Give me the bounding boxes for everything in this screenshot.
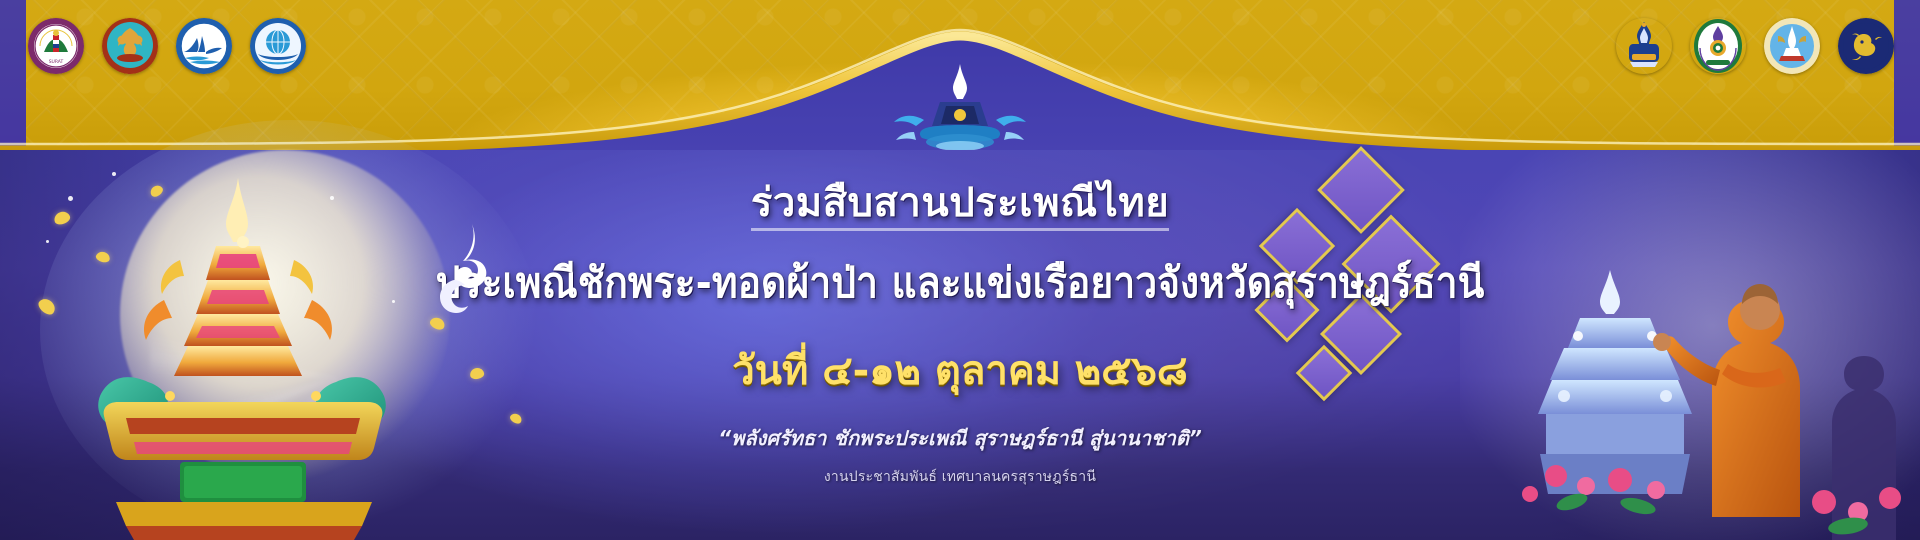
publisher-credit: งานประชาสัมพันธ์ เทศบาลนครสุราษฎร์ธานี xyxy=(390,466,1530,488)
headline-line-1: ร่วมสืบสานประเพณีไทย xyxy=(390,170,1530,234)
right-logo-row xyxy=(1616,18,1894,74)
emblem-teal-boat-icon[interactable] xyxy=(102,18,158,74)
headline-text-block: ร่วมสืบสานประเพณีไทย ประเพณีชักพระ-ทอดผ้… xyxy=(390,162,1530,540)
festival-banner: SURAT xyxy=(0,0,1920,540)
emblem-blue-city-hall-icon[interactable] xyxy=(176,18,232,74)
event-slogan: “พลังศรัทธา ชักพระประเพณี สุราษฎร์ธานี ส… xyxy=(390,422,1530,454)
emblem-royal-crown-blue-icon[interactable] xyxy=(1616,18,1672,74)
emblem-navy-singha-icon[interactable] xyxy=(1838,18,1894,74)
thai-flame-ornament-icon xyxy=(432,222,494,318)
svg-text:SURAT: SURAT xyxy=(49,59,64,65)
headline-line-1-text: ร่วมสืบสานประเพณีไทย xyxy=(751,180,1169,231)
right-purple-edge-strip xyxy=(1894,0,1920,160)
left-logo-row: SURAT xyxy=(28,18,306,74)
left-purple-edge-strip xyxy=(0,0,26,160)
emblem-green-oval-ministry-icon[interactable] xyxy=(1690,18,1746,74)
event-date-line: วันที่ ๔-๑๒ ตุลาคม ๒๕๖๘ xyxy=(390,338,1530,402)
headline-line-2: ประเพณีชักพระ-ทอดผ้าป่า และแข่งเรือยาวจั… xyxy=(430,250,1490,316)
emblem-maroon-circular-icon[interactable]: SURAT xyxy=(28,18,84,74)
emblem-lightblue-pagoda-icon[interactable] xyxy=(1764,18,1820,74)
emblem-blue-globe-icon[interactable] xyxy=(250,18,306,74)
